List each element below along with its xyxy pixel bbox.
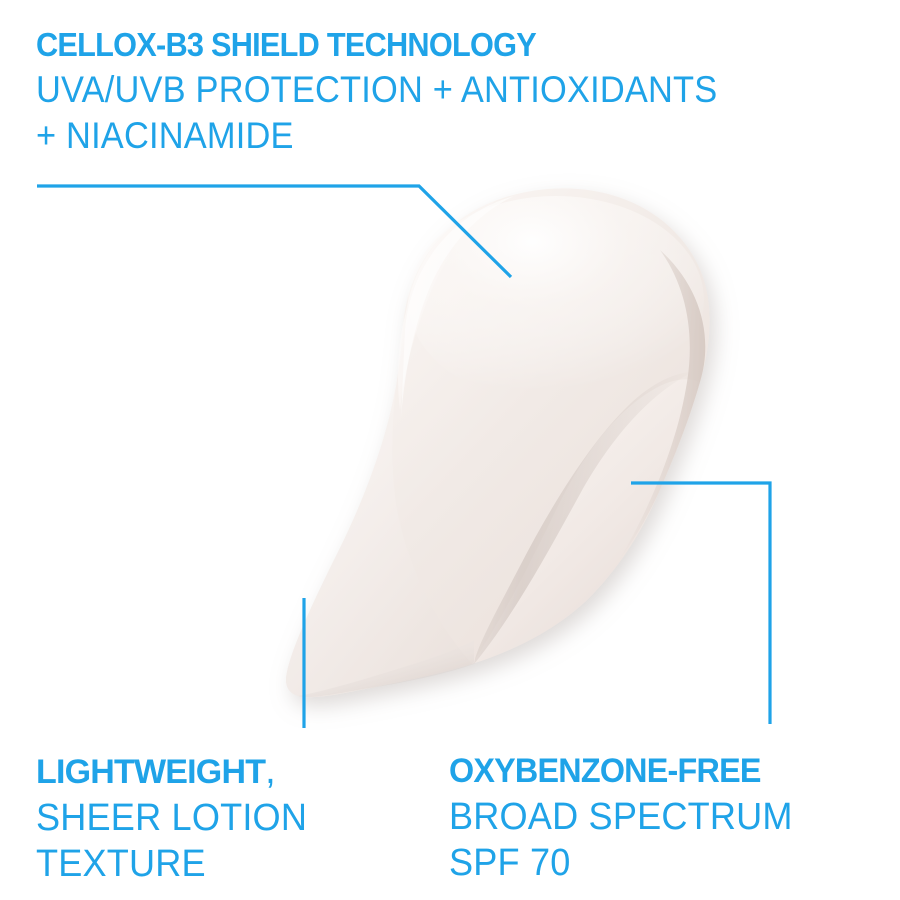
feature-left-headline: LIGHTWEIGHT: [36, 753, 265, 791]
header-line-1-technology-name: CELLOX-B3 SHIELD TECHNOLOGY: [36, 22, 817, 67]
feature-left-line-2: SHEER LOTION: [36, 795, 416, 841]
feature-block-texture: LIGHTWEIGHT, SHEER LOTION TEXTURE: [36, 748, 436, 887]
feature-left-line-1: LIGHTWEIGHT,: [36, 748, 436, 795]
header-line-3-benefits-cont: + NIACINAMIDE: [36, 113, 817, 159]
sunscreen-feature-infographic: CELLOX-B3 SHIELD TECHNOLOGY UVA/UVB PROT…: [0, 0, 900, 900]
feature-left-line-3: TEXTURE: [36, 841, 416, 887]
feature-block-protection: OXYBENZONE-FREE BROAD SPECTRUM SPF 70: [449, 748, 899, 886]
feature-right-line-2: BROAD SPECTRUM: [449, 794, 877, 840]
feature-right-headline: OXYBENZONE-FREE: [449, 748, 877, 794]
feature-right-line-3-spf: SPF 70: [449, 840, 877, 886]
feature-left-headline-comma: ,: [265, 750, 276, 792]
header-text-block: CELLOX-B3 SHIELD TECHNOLOGY UVA/UVB PROT…: [36, 22, 876, 159]
header-line-2-benefits: UVA/UVB PROTECTION + ANTIOXIDANTS: [36, 67, 817, 113]
